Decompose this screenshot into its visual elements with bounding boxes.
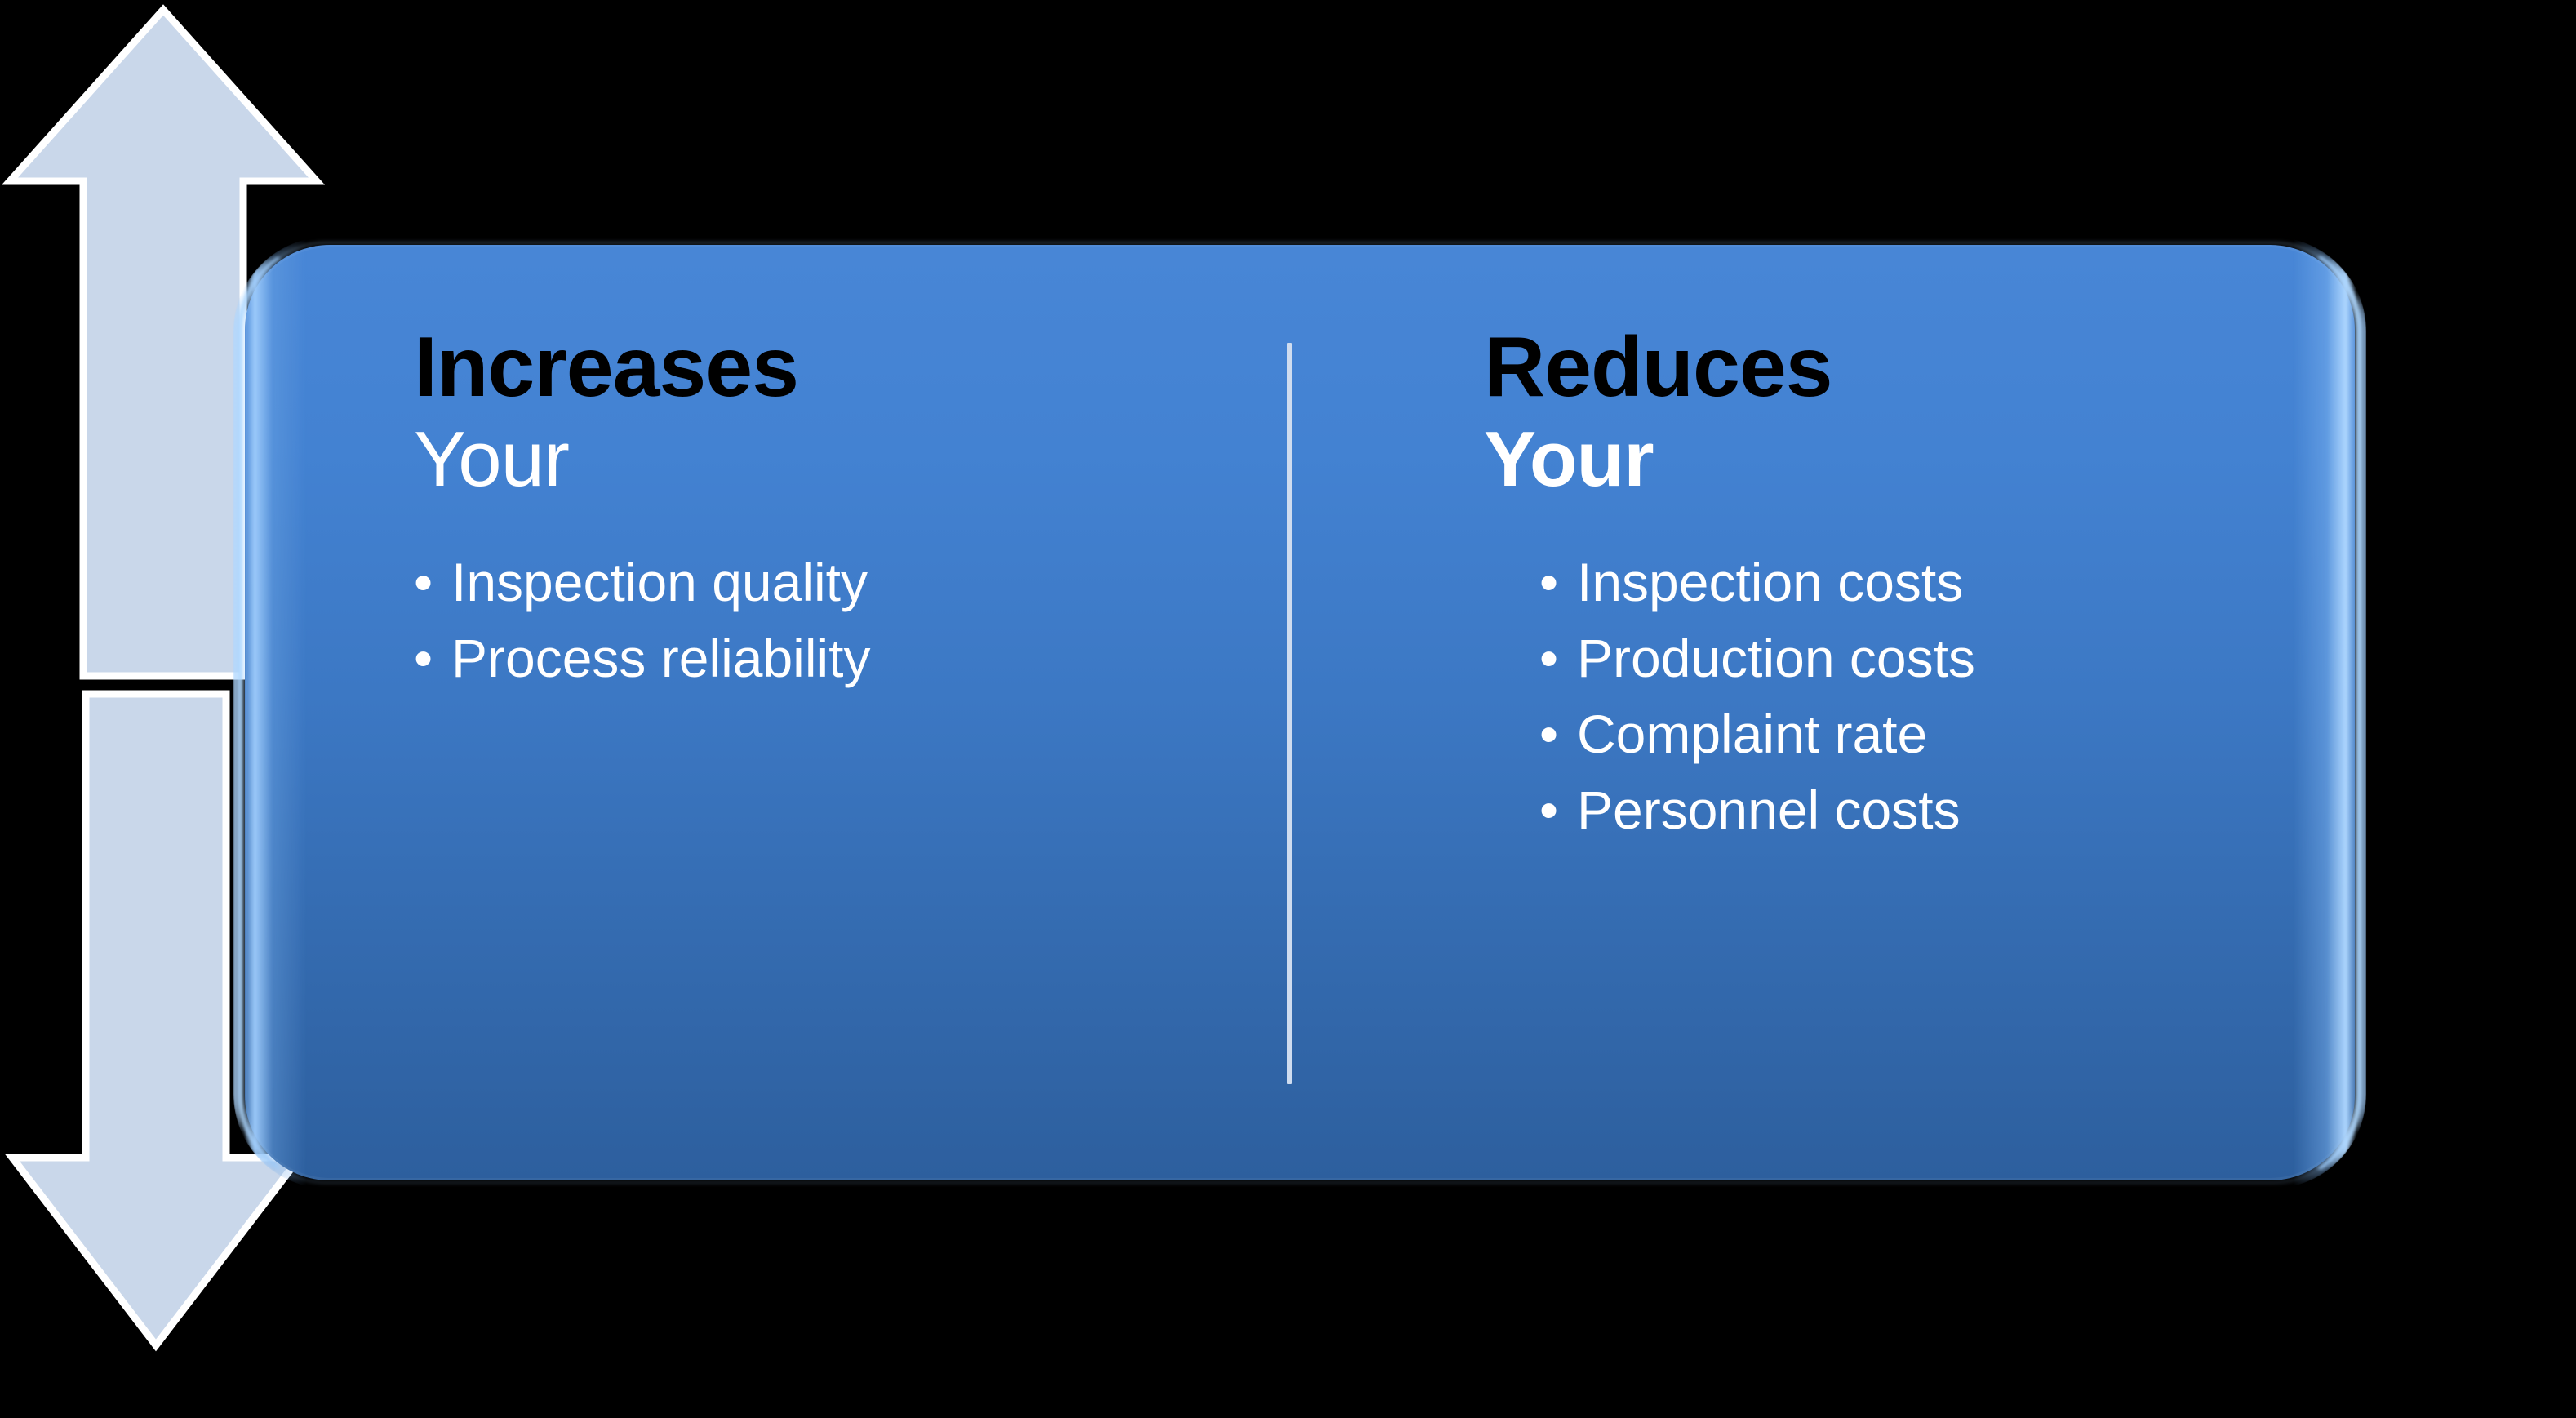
- list-item: • Complaint rate: [1539, 707, 1975, 761]
- list-item-label: Personnel costs: [1577, 783, 1961, 837]
- bullet-point-icon: •: [414, 631, 451, 685]
- list-item: • Inspection costs: [1539, 555, 1975, 609]
- list-item-label: Inspection costs: [1577, 555, 1963, 609]
- list-item: • Inspection quality: [414, 555, 871, 609]
- list-item-label: Complaint rate: [1577, 707, 1927, 761]
- bullet-point-icon: •: [1539, 631, 1577, 685]
- column-reduces-bullet-list: • Inspection costs • Production costs • …: [1539, 555, 1975, 859]
- bullet-point-icon: •: [1539, 707, 1577, 761]
- list-item-label: Process reliability: [451, 631, 871, 685]
- bullet-point-icon: •: [414, 555, 451, 609]
- list-item-label: Production costs: [1577, 631, 1975, 685]
- list-item: • Personnel costs: [1539, 783, 1975, 837]
- panel-content: Increases Your • Inspection quality • Pr…: [245, 245, 2355, 1180]
- column-divider: [1287, 343, 1292, 1084]
- column-reduces-subheading: Your: [1484, 420, 1654, 499]
- list-item: • Process reliability: [414, 631, 871, 685]
- benefits-panel: Increases Your • Inspection quality • Pr…: [245, 245, 2355, 1180]
- list-item: • Production costs: [1539, 631, 1975, 685]
- bullet-point-icon: •: [1539, 783, 1577, 837]
- column-reduces-heading: Reduces: [1484, 325, 1832, 410]
- bullet-point-icon: •: [1539, 555, 1577, 609]
- column-increases-subheading: Your: [414, 420, 569, 499]
- column-increases-heading: Increases: [414, 325, 798, 410]
- column-increases-bullet-list: • Inspection quality • Process reliabili…: [414, 555, 871, 707]
- list-item-label: Inspection quality: [451, 555, 868, 609]
- slide-canvas: Increases Your • Inspection quality • Pr…: [0, 0, 2576, 1418]
